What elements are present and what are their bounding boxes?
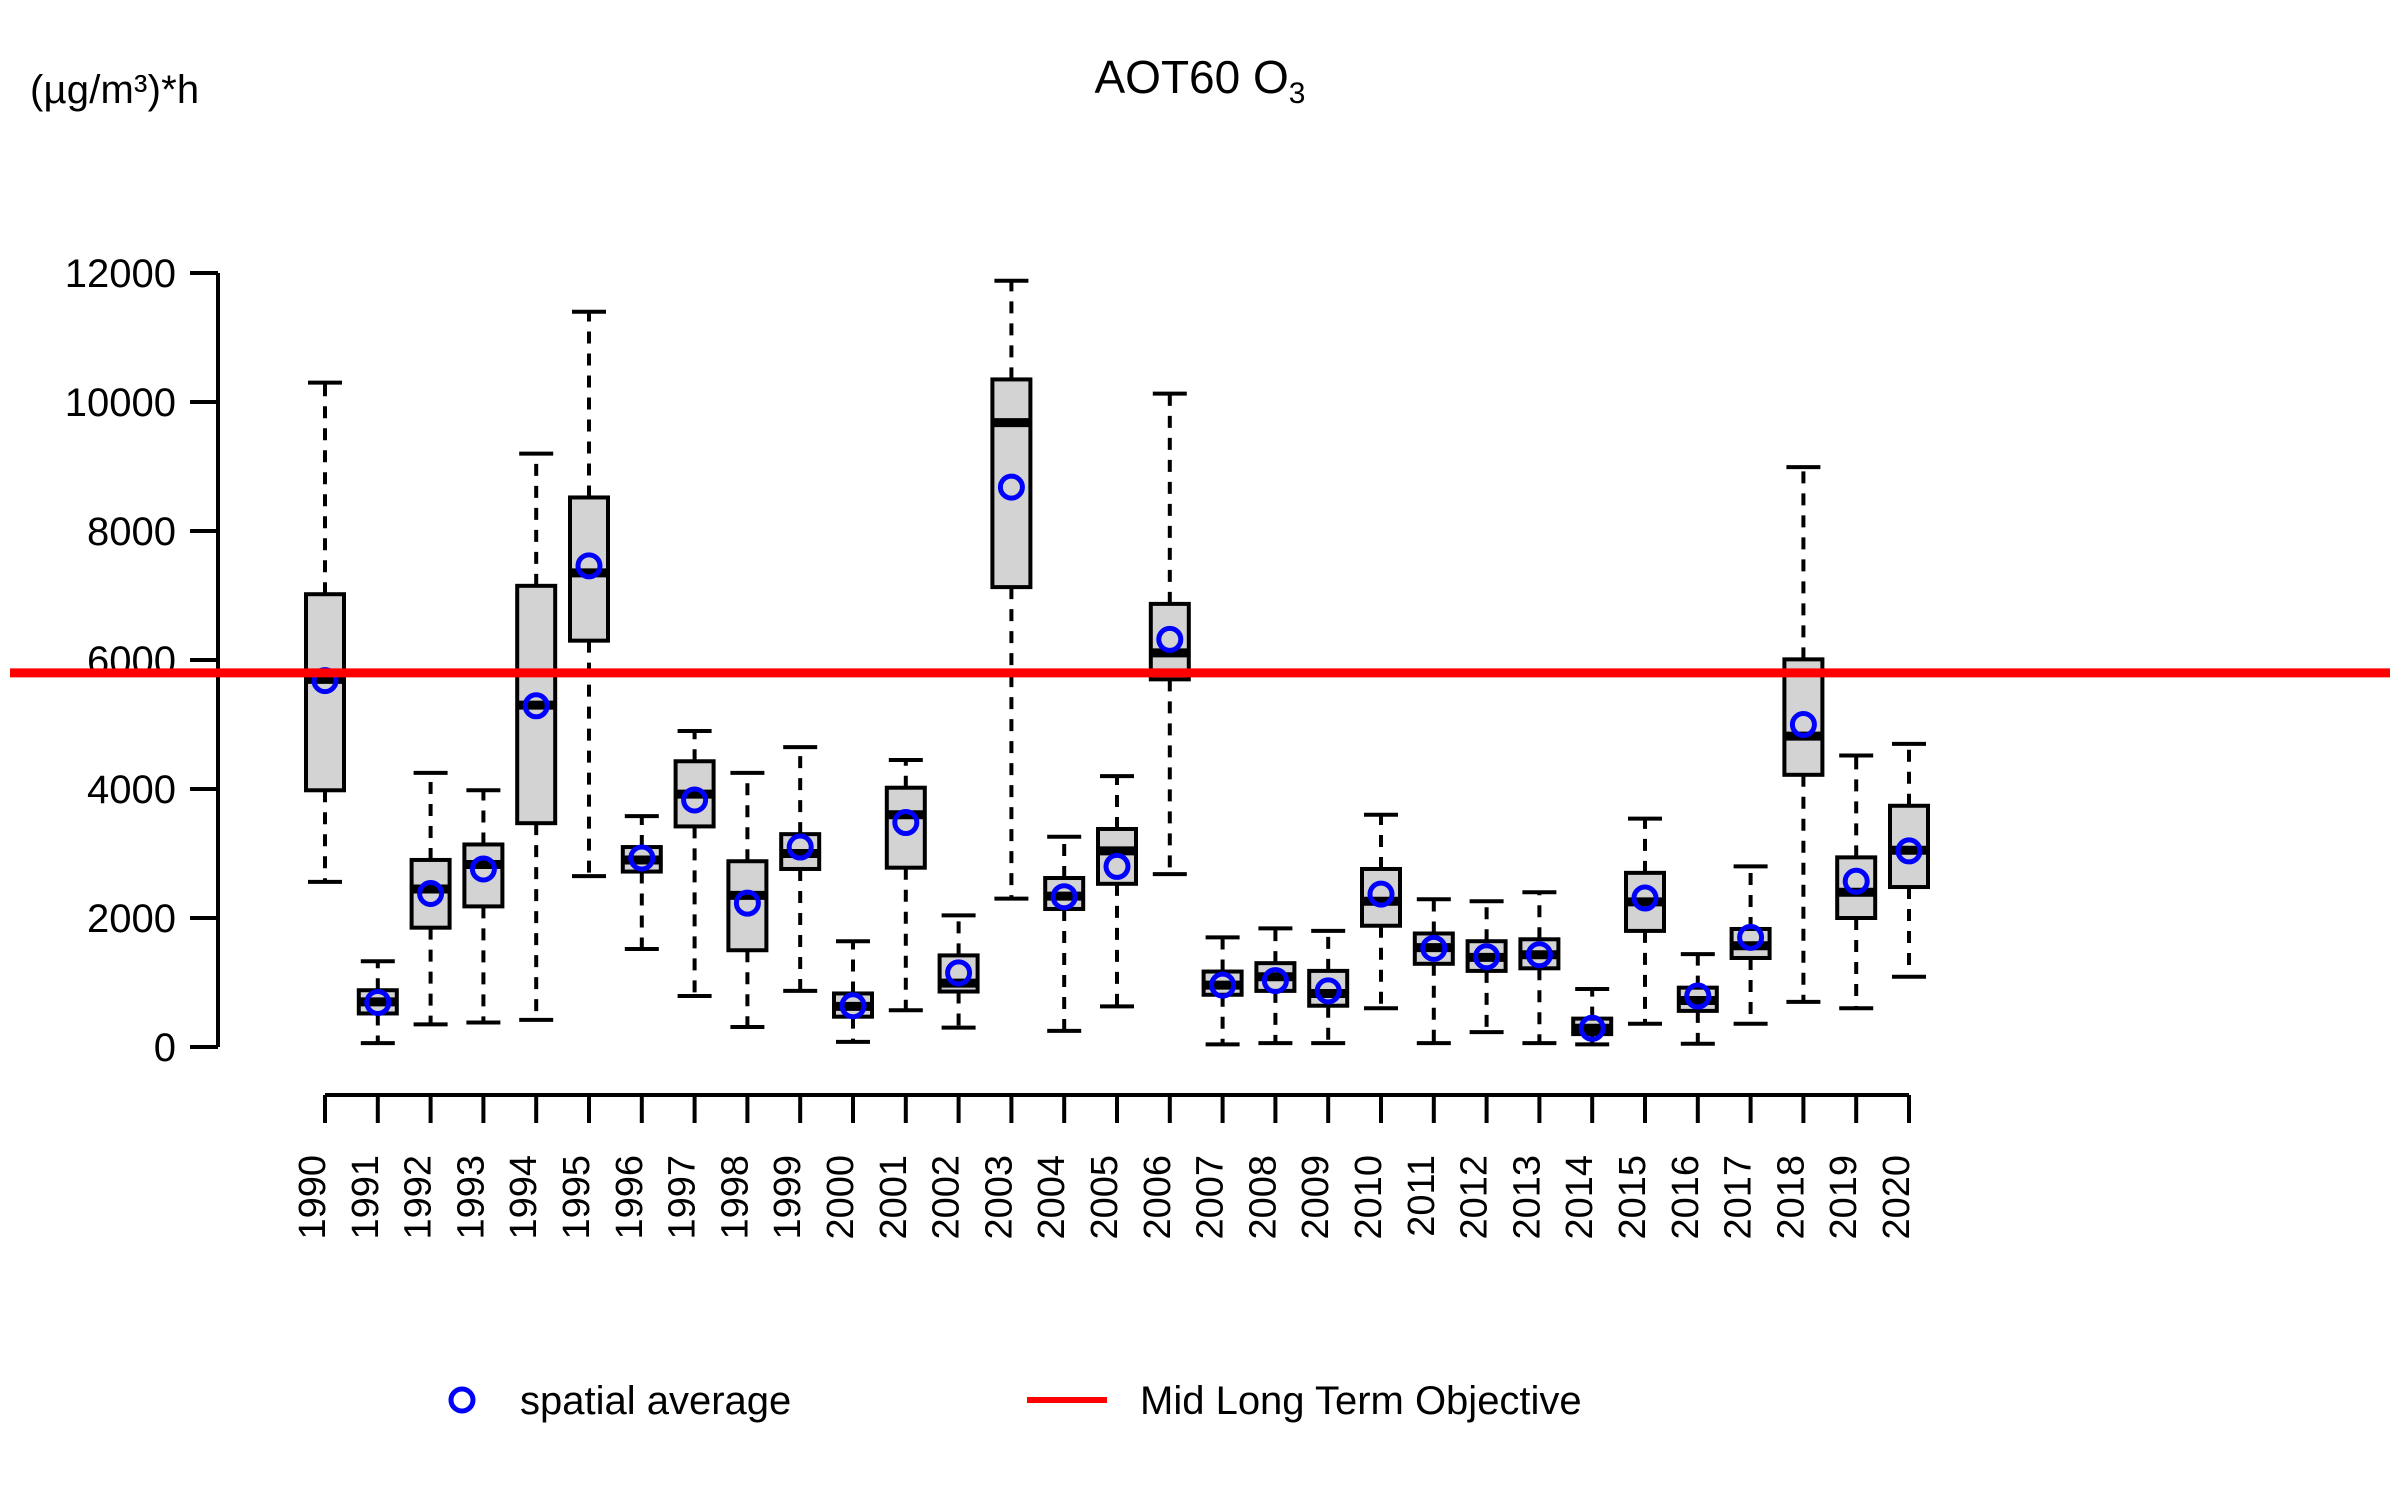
boxplot-2003	[992, 281, 1030, 899]
boxplot-1999	[781, 747, 819, 991]
x-tick-label-2012: 2012	[1454, 1155, 1496, 1240]
boxplot-2008	[1256, 928, 1294, 1043]
x-tick-label-2013: 2013	[1506, 1155, 1548, 1240]
x-tick-label-2010: 2010	[1348, 1155, 1390, 1240]
x-tick-label-2001: 2001	[873, 1155, 915, 1240]
box-iqr	[1837, 857, 1875, 918]
legend-label-spatial-average: spatial average	[520, 1379, 791, 1423]
x-tick-label-2009: 2009	[1295, 1155, 1337, 1240]
x-tick-label-2008: 2008	[1242, 1155, 1284, 1240]
x-tick-label-1995: 1995	[556, 1155, 598, 1240]
legend-marker-spatial-average	[451, 1389, 473, 1411]
x-tick-label-2015: 2015	[1612, 1155, 1654, 1240]
x-tick-label-2007: 2007	[1190, 1155, 1232, 1240]
x-tick-label-2004: 2004	[1031, 1155, 1073, 1240]
box-iqr	[464, 844, 502, 906]
x-tick-label-2014: 2014	[1559, 1155, 1601, 1240]
x-tick-label-1994: 1994	[503, 1155, 545, 1240]
x-tick-label-2003: 2003	[978, 1155, 1020, 1240]
boxplot-canvas: 020004000600080001000012000 199019911992…	[0, 0, 2400, 1500]
boxplot-2013	[1520, 892, 1558, 1043]
x-tick-label-1998: 1998	[714, 1155, 756, 1240]
boxplot-2018	[1784, 467, 1822, 1002]
x-tick-label-1990: 1990	[292, 1155, 334, 1240]
x-tick-label-2020: 2020	[1876, 1155, 1918, 1240]
boxplot-2006	[1151, 394, 1189, 875]
boxplot-1993	[464, 790, 502, 1022]
x-tick-label-2000: 2000	[820, 1155, 862, 1240]
x-tick-label-2011: 2011	[1401, 1155, 1443, 1237]
box-iqr	[992, 379, 1030, 587]
box-iqr	[887, 788, 925, 868]
x-tick-label-2002: 2002	[926, 1155, 968, 1240]
boxplot-2007	[1204, 937, 1242, 1044]
x-tick-label-2005: 2005	[1084, 1155, 1126, 1240]
boxplot-1997	[676, 731, 714, 996]
boxplot-2015	[1626, 819, 1664, 1024]
x-tick-label-1993: 1993	[450, 1155, 492, 1240]
boxplot-series	[306, 281, 1928, 1045]
boxplot-2011	[1415, 899, 1453, 1043]
x-tick-label-2019: 2019	[1823, 1155, 1865, 1240]
x-tick-label-1999: 1999	[767, 1155, 809, 1240]
x-tick-label-1996: 1996	[609, 1155, 651, 1240]
legend-label-mid-long-term-objective: Mid Long Term Objective	[1140, 1379, 1582, 1423]
y-tick-label: 2000	[87, 897, 176, 941]
boxplot-2020	[1890, 744, 1928, 977]
boxplot-1995	[570, 312, 608, 876]
boxplot-2012	[1468, 901, 1506, 1032]
boxplot-1996	[623, 816, 661, 949]
chart-legend: spatial averageMid Long Term Objective	[451, 1379, 1582, 1423]
boxplot-1990	[306, 383, 344, 882]
y-tick-label: 10000	[65, 381, 176, 425]
boxplot-1994	[517, 454, 555, 1020]
x-tick-label-2006: 2006	[1137, 1155, 1179, 1240]
boxplot-1998	[728, 773, 766, 1027]
boxplot-1992	[412, 773, 450, 1025]
boxplot-2010	[1362, 815, 1400, 1009]
x-tick-label-1992: 1992	[398, 1155, 440, 1240]
boxplot-2002	[940, 915, 978, 1027]
boxplot-2001	[887, 760, 925, 1010]
chart-root: (µg/m³)*h AOT60 O3 020004000600080001000…	[0, 0, 2400, 1500]
y-tick-label: 4000	[87, 768, 176, 812]
x-tick-label-2016: 2016	[1665, 1155, 1707, 1240]
y-tick-label: 0	[154, 1026, 176, 1070]
x-tick-label-2017: 2017	[1718, 1155, 1760, 1240]
y-axis: 020004000600080001000012000	[65, 252, 218, 1070]
boxplot-2009	[1309, 931, 1347, 1043]
boxplot-2019	[1837, 755, 1875, 1008]
x-axis: 1990199119921993199419951996199719981999…	[292, 1095, 1918, 1240]
boxplot-2014	[1573, 989, 1611, 1044]
y-tick-label: 12000	[65, 252, 176, 296]
boxplot-2000	[834, 941, 872, 1042]
boxplot-2017	[1732, 866, 1770, 1023]
y-tick-label: 8000	[87, 510, 176, 554]
boxplot-2016	[1679, 954, 1717, 1044]
x-tick-label-1997: 1997	[662, 1155, 704, 1240]
box-iqr	[728, 861, 766, 950]
boxplot-2005	[1098, 776, 1136, 1006]
x-tick-label-1991: 1991	[345, 1155, 387, 1240]
x-tick-label-2018: 2018	[1770, 1155, 1812, 1240]
boxplot-1991	[359, 961, 397, 1043]
boxplot-2004	[1045, 837, 1083, 1031]
